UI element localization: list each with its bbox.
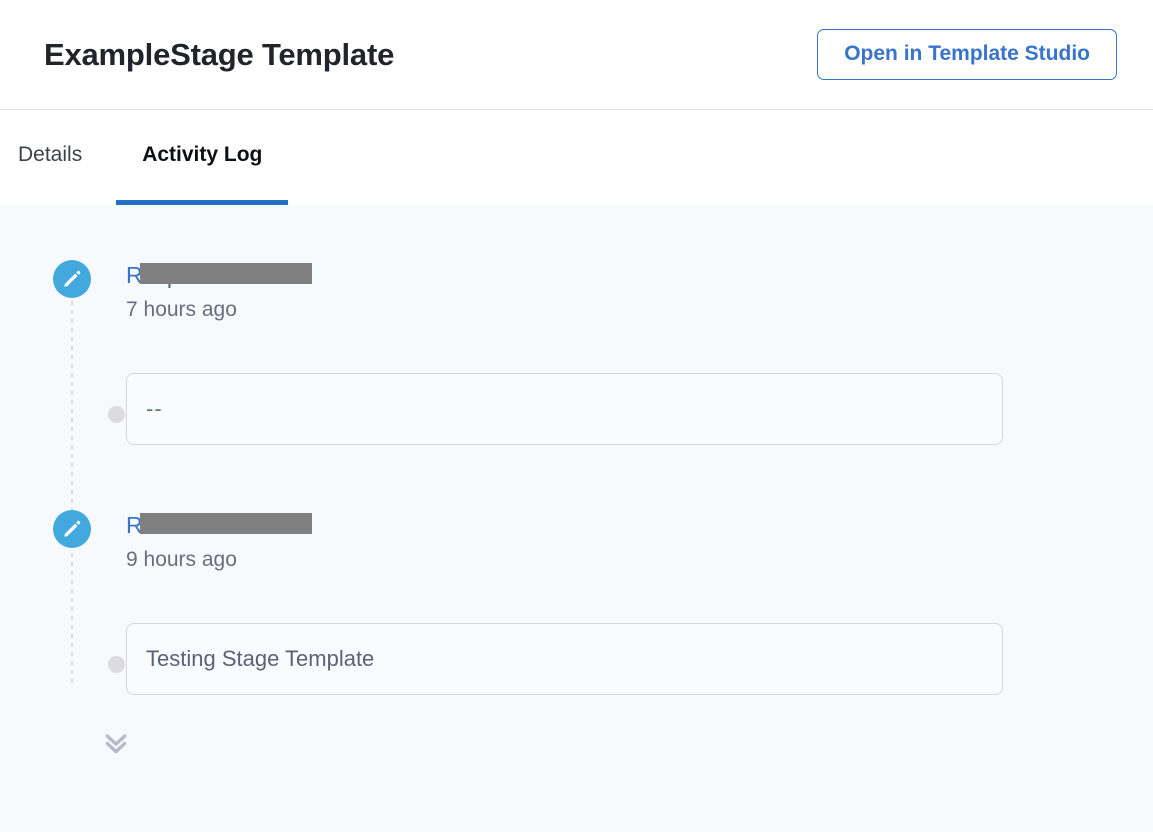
actor-prefix: R xyxy=(126,512,143,538)
activity-comment-box: Testing Stage Template xyxy=(126,623,1003,695)
actor-link[interactable]: Ri xyxy=(126,260,148,291)
tab-details[interactable]: Details xyxy=(18,110,116,205)
actor-link[interactable]: Ri xyxy=(126,510,148,541)
activity-entry-text: Ri created v1 xyxy=(44,510,1153,541)
timeline-node-dot xyxy=(108,406,125,423)
open-in-template-studio-button[interactable]: Open in Template Studio xyxy=(817,29,1117,80)
tab-details-label: Details xyxy=(18,143,82,167)
tab-activity-log[interactable]: Activity Log xyxy=(116,110,288,205)
activity-entry-text: Ri updated v1 xyxy=(44,260,1153,291)
page-header: ExampleStage Template Open in Template S… xyxy=(0,0,1153,110)
actor-suffix: i xyxy=(143,512,148,538)
version-link[interactable]: v1 xyxy=(237,512,261,538)
activity-entry-header: Ri created v1 9 hours ago xyxy=(44,510,1153,592)
activity-timeline: Ri updated v1 7 hours ago -- Ri crea xyxy=(0,260,1153,794)
activity-log-panel: Ri updated v1 7 hours ago -- Ri crea xyxy=(0,205,1153,832)
activity-comment-box: -- xyxy=(126,373,1003,445)
pencil-icon xyxy=(53,260,91,298)
activity-comment-row: Testing Stage Template xyxy=(44,592,1153,760)
pencil-icon xyxy=(53,510,91,548)
activity-entry: Ri updated v1 7 hours ago -- xyxy=(44,260,1153,510)
activity-action: updated xyxy=(148,262,244,288)
tab-bar: Details Activity Log xyxy=(0,110,1153,205)
actor-suffix: i xyxy=(143,262,148,288)
activity-comment-row: -- xyxy=(44,342,1153,510)
activity-entry: Ri created v1 9 hours ago Testing Stage … xyxy=(44,510,1153,760)
timeline-node-dot xyxy=(108,656,125,673)
tab-activity-log-label: Activity Log xyxy=(142,143,262,167)
page-title: ExampleStage Template xyxy=(44,39,394,70)
activity-entry-header: Ri updated v1 7 hours ago xyxy=(44,260,1153,342)
activity-timestamp: 9 hours ago xyxy=(44,546,1153,573)
activity-action: created xyxy=(148,512,238,538)
actor-prefix: R xyxy=(126,262,143,288)
chevrons-down-icon[interactable] xyxy=(99,724,133,758)
version-link[interactable]: v1 xyxy=(244,262,268,288)
activity-timestamp: 7 hours ago xyxy=(44,296,1153,323)
